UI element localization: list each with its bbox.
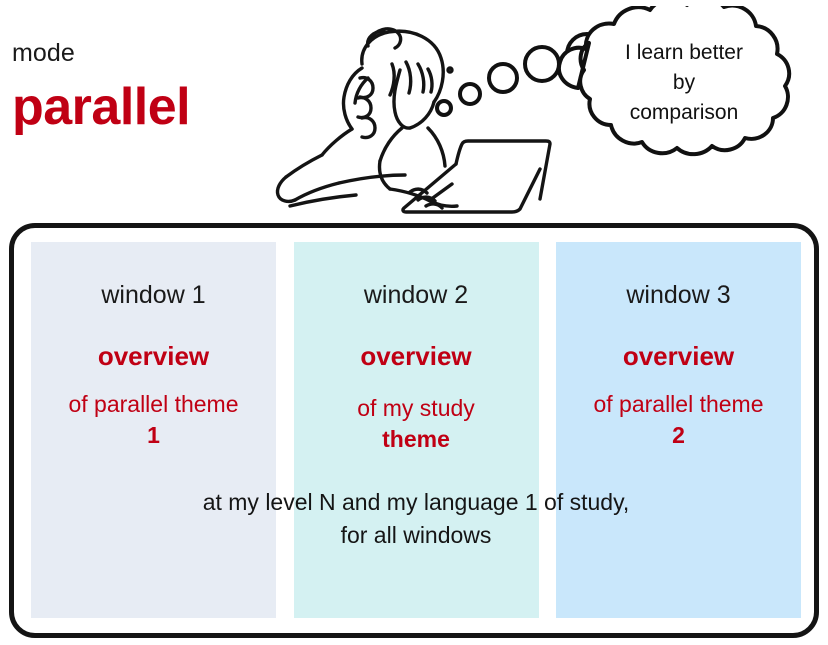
mode-value: parallel <box>12 80 272 135</box>
window-2-detail-text: of my study <box>357 395 475 421</box>
window-2-detail: of my study theme <box>294 393 539 455</box>
thought-bubble <box>430 6 826 172</box>
thought-dot-2 <box>460 84 480 104</box>
window-panel-3[interactable]: window 3 overview of parallel theme 2 <box>556 242 801 618</box>
header-block: mode parallel <box>12 40 272 134</box>
window-panel-1-content: window 1 overview of parallel theme 1 <box>31 242 276 451</box>
window-1-detail: of parallel theme 1 <box>31 389 276 451</box>
window-3-overview-label: overview <box>556 341 801 372</box>
window-3-detail: of parallel theme 2 <box>556 389 801 451</box>
slide-canvas: mode parallel <box>0 0 828 645</box>
windows-container: window 1 overview of parallel theme 1 wi… <box>9 223 819 638</box>
window-panel-2-content: window 2 overview of my study theme <box>294 242 539 455</box>
mode-label: mode <box>12 40 272 68</box>
window-3-detail-text: of parallel theme <box>593 391 763 417</box>
thought-dot-3 <box>489 64 517 92</box>
thought-dot-1 <box>437 101 451 115</box>
window-2-title: window 2 <box>294 280 539 310</box>
window-panel-1[interactable]: window 1 overview of parallel theme 1 <box>31 242 276 618</box>
thought-dot-4 <box>525 47 559 81</box>
window-1-detail-emphasis: 1 <box>37 420 270 451</box>
window-2-overview-label: overview <box>294 341 539 372</box>
window-panel-3-content: window 3 overview of parallel theme 2 <box>556 242 801 451</box>
window-1-overview-label: overview <box>31 341 276 372</box>
window-1-title: window 1 <box>31 280 276 310</box>
window-3-title: window 3 <box>556 280 801 310</box>
window-3-detail-emphasis: 2 <box>562 420 795 451</box>
window-1-detail-text: of parallel theme <box>68 391 238 417</box>
window-2-detail-emphasis: theme <box>300 424 533 455</box>
panels-row: window 1 overview of parallel theme 1 wi… <box>31 242 801 618</box>
window-panel-2[interactable]: window 2 overview of my study theme <box>294 242 539 618</box>
